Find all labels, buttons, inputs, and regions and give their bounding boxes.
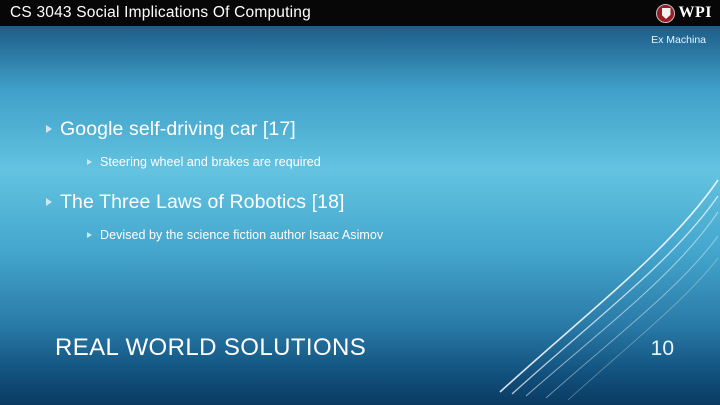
bullet-triangle-icon <box>46 125 52 133</box>
bullet-triangle-icon <box>46 198 52 206</box>
bullet-level1: Google self-driving car [17] <box>60 118 720 141</box>
bullet-level2: Devised by the science fiction author Is… <box>100 228 720 242</box>
bullet-level2-text: Devised by the science fiction author Is… <box>100 228 383 242</box>
bullet-level1: The Three Laws of Robotics [18] <box>60 191 720 214</box>
wpi-logo-text: WPI <box>679 5 713 21</box>
bullet-triangle-icon <box>87 159 92 165</box>
bullet-triangle-icon <box>87 232 92 238</box>
section-title: REAL WORLD SOLUTIONS <box>55 334 366 362</box>
bullet-level2: Steering wheel and brakes are required <box>100 155 720 169</box>
wpi-seal-icon <box>656 4 675 23</box>
bullet-level1-text: Google self-driving car [17] <box>60 118 296 140</box>
bullet-level1-text: The Three Laws of Robotics [18] <box>60 191 345 213</box>
slide-subtitle: Ex Machina <box>651 34 706 46</box>
page-title: CS 3043 Social Implications Of Computing <box>10 4 311 22</box>
page-number: 10 <box>651 337 674 361</box>
wpi-logo: WPI <box>656 1 713 25</box>
slide-body: Google self-driving car [17] Steering wh… <box>0 118 720 264</box>
bullet-level2-text: Steering wheel and brakes are required <box>100 155 321 169</box>
slide: CS 3043 Social Implications Of Computing… <box>0 0 720 405</box>
